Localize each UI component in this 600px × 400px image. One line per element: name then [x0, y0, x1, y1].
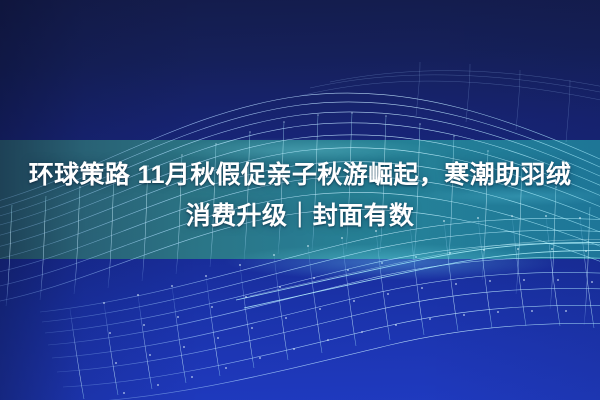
cover-headline: 环球策路 11月秋假促亲子秋游崛起，寒潮助羽绒消费升级｜封面有数 [0, 155, 600, 237]
cover-image: 环球策路 11月秋假促亲子秋游崛起，寒潮助羽绒消费升级｜封面有数 [0, 0, 600, 400]
headline-line-2: 消费升级｜封面有数 [186, 202, 415, 230]
headline-line-1: 环球策路 11月秋假促亲子秋游崛起，寒潮助羽绒 [29, 161, 572, 189]
